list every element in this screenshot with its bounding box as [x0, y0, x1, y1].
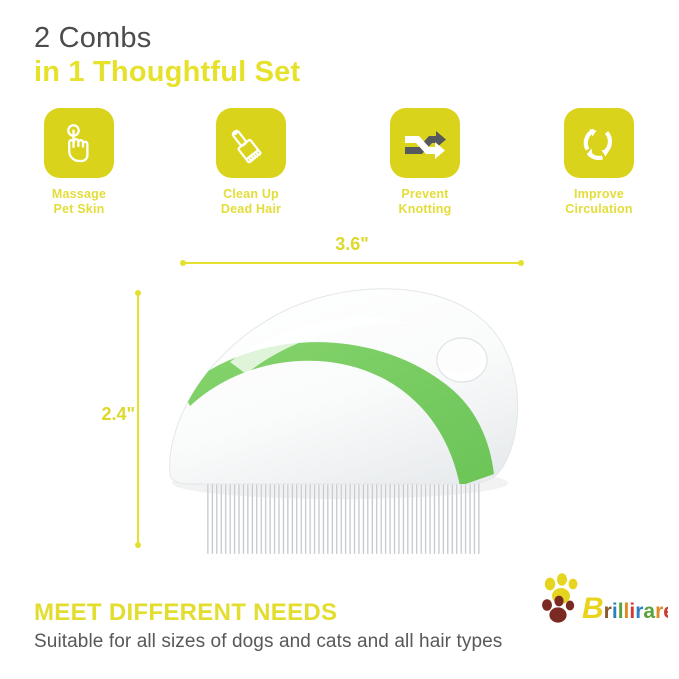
width-dimension-line: 3.6" — [182, 262, 522, 264]
comb-tooth — [234, 474, 236, 554]
bottom-copy: MEET DIFFERENT NEEDS Suitable for all si… — [34, 600, 502, 653]
comb-tooth — [434, 474, 436, 554]
hand-tap-icon — [56, 120, 102, 166]
comb-tooth — [256, 474, 258, 554]
headline: 2 Combs in 1 Thoughtful Set — [34, 24, 300, 87]
comb-tooth — [456, 474, 458, 554]
comb-tooth — [287, 474, 289, 554]
comb-tooth — [309, 474, 311, 554]
comb-tooth — [247, 474, 249, 554]
height-dimension-label: 2.4" — [91, 404, 135, 425]
comb-tooth — [442, 474, 444, 554]
bottom-title: MEET DIFFERENT NEEDS — [34, 600, 502, 625]
comb-tooth — [260, 474, 262, 554]
feature-item-prevent-knotting: Prevent Knotting — [350, 108, 500, 218]
comb-tooth — [371, 474, 373, 554]
comb-tooth — [278, 474, 280, 554]
brand-wordmark: Brillirare — [582, 592, 668, 625]
comb-tooth — [225, 474, 227, 554]
comb-tooth — [207, 474, 209, 554]
comb-tooth — [283, 474, 285, 554]
brand-logo: Brillirare — [536, 572, 668, 628]
comb-tooth — [331, 474, 333, 554]
feature-label: Massage Pet Skin — [4, 187, 154, 218]
brand-letter: r — [635, 600, 643, 623]
feature-label: Improve Circulation — [524, 187, 674, 218]
brand-letter: r — [655, 600, 663, 623]
comb-tooth — [336, 474, 338, 554]
comb-tooth — [358, 474, 360, 554]
comb-tooth — [323, 474, 325, 554]
dimension-endpoint-top — [135, 290, 141, 296]
comb-tooth — [243, 474, 245, 554]
comb-tooth — [238, 474, 240, 554]
comb-tooth — [274, 474, 276, 554]
comb-tooth — [411, 474, 413, 554]
comb-tooth — [318, 474, 320, 554]
brand-letter: a — [643, 600, 655, 623]
comb-tooth — [216, 474, 218, 554]
brush-icon — [228, 120, 274, 166]
comb-tooth — [229, 474, 231, 554]
comb-tooth — [305, 474, 307, 554]
comb-tooth — [469, 474, 471, 554]
comb-tooth — [291, 474, 293, 554]
feature-label: Prevent Knotting — [350, 187, 500, 218]
comb-tooth — [269, 474, 271, 554]
feature-item-clean-up: Clean Up Dead Hair — [176, 108, 326, 218]
comb-tooth — [420, 474, 422, 554]
feature-icon-box — [390, 108, 460, 178]
comb-tooth — [416, 474, 418, 554]
comb-tooth — [349, 474, 351, 554]
comb-tooth — [354, 474, 356, 554]
comb-tooth — [296, 474, 298, 554]
comb-tooth — [425, 474, 427, 554]
comb-tooth — [451, 474, 453, 554]
headline-line-1: 2 Combs — [34, 24, 300, 53]
comb-tooth — [407, 474, 409, 554]
two-arrows-icon — [401, 123, 449, 163]
feature-list: Massage Pet Skin — [0, 108, 679, 228]
dimension-endpoint-bottom — [135, 542, 141, 548]
comb-tooth — [394, 474, 396, 554]
comb-tooth — [429, 474, 431, 554]
comb-tooth — [345, 474, 347, 554]
feature-item-massage: Massage Pet Skin — [4, 108, 154, 218]
comb-tooth — [362, 474, 364, 554]
bottom-subtitle: Suitable for all sizes of dogs and cats … — [34, 631, 502, 653]
paw-print-brown-icon — [542, 596, 574, 623]
comb-tooth — [402, 474, 404, 554]
circulation-arrows-icon — [576, 120, 622, 166]
feature-icon-box — [216, 108, 286, 178]
comb-tooth — [380, 474, 382, 554]
comb-tooth — [340, 474, 342, 554]
comb-tooth — [474, 474, 476, 554]
feature-item-improve-circulation: Improve Circulation — [524, 108, 674, 218]
comb-tooth — [447, 474, 449, 554]
comb-tooth — [389, 474, 391, 554]
comb-tooth — [398, 474, 400, 554]
comb-tooth — [367, 474, 369, 554]
infographic-canvas: 2 Combs in 1 Thoughtful Set — [0, 0, 679, 679]
dimension-endpoint-right — [518, 260, 524, 266]
comb-tooth — [438, 474, 440, 554]
comb-tooth — [300, 474, 302, 554]
comb-tooth — [376, 474, 378, 554]
brand-letter: e — [663, 600, 668, 623]
brand-letter: B — [582, 592, 604, 625]
height-dimension-line: 2.4" — [137, 292, 139, 546]
dimension-bar — [182, 262, 522, 264]
comb-tooth — [265, 474, 267, 554]
brand-letter: r — [604, 600, 612, 623]
feature-icon-box — [564, 108, 634, 178]
comb-tooth — [220, 474, 222, 554]
comb-tooth — [251, 474, 253, 554]
comb-tooth — [460, 474, 462, 554]
headline-line-2: in 1 Thoughtful Set — [34, 58, 300, 87]
comb-tooth — [385, 474, 387, 554]
feature-icon-box — [44, 108, 114, 178]
width-dimension-label: 3.6" — [182, 234, 522, 255]
comb-tooth — [478, 474, 480, 554]
comb-thumb-hole-inner — [439, 339, 481, 375]
dimension-endpoint-left — [180, 260, 186, 266]
comb-tooth — [211, 474, 213, 554]
dimension-bar — [137, 292, 139, 546]
comb-tooth — [327, 474, 329, 554]
product-image-comb: {} — [160, 278, 530, 568]
feature-label: Clean Up Dead Hair — [176, 187, 326, 218]
comb-tooth — [465, 474, 467, 554]
comb-tooth — [314, 474, 316, 554]
